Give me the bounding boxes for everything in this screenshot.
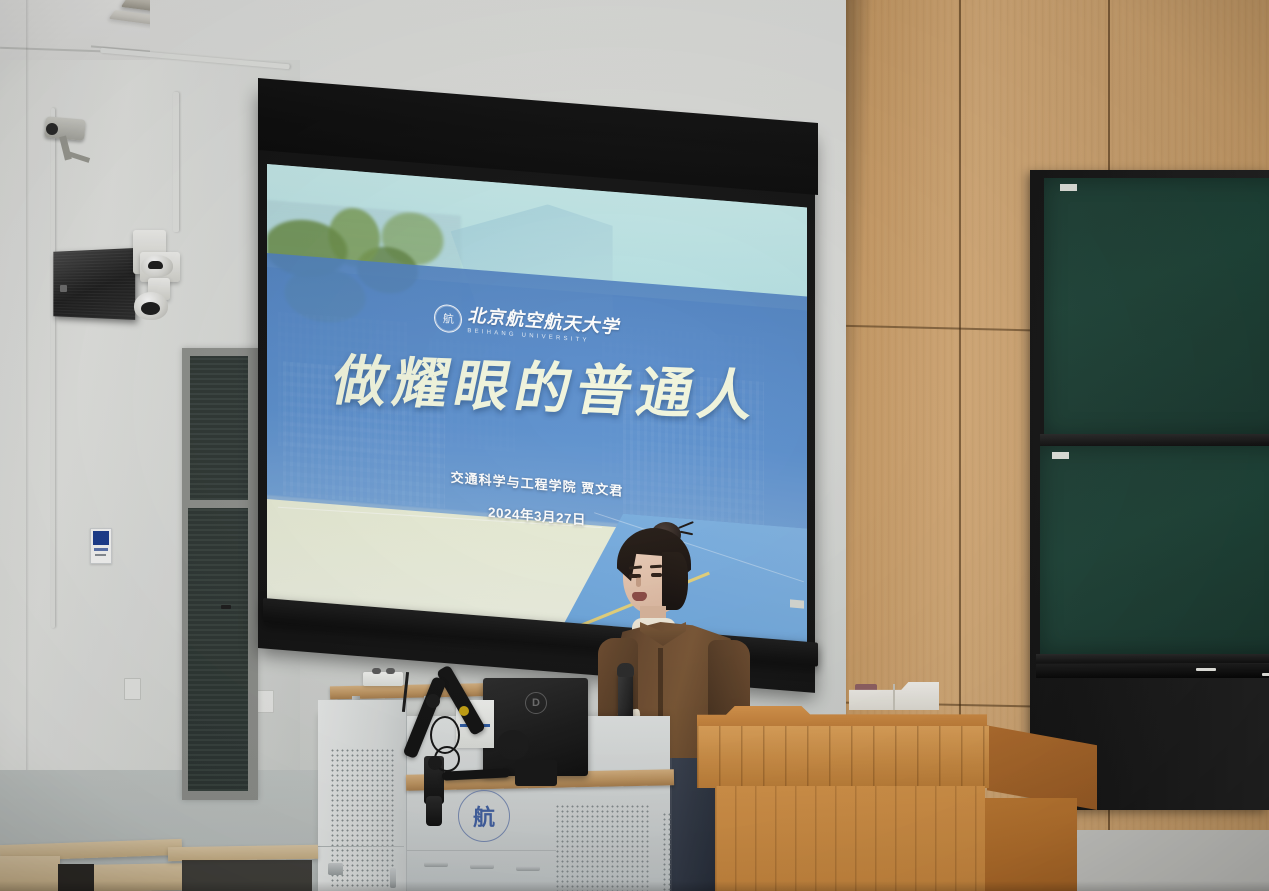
blackboard-rail — [1036, 654, 1269, 663]
hair-wisp — [678, 521, 694, 529]
podium-top-edge — [697, 706, 987, 728]
podium-item-seam — [893, 684, 895, 710]
window-handle[interactable] — [221, 605, 231, 609]
drawer-handle[interactable] — [424, 862, 448, 867]
eye — [651, 573, 662, 577]
wall-conduit — [173, 92, 179, 232]
dell-logo-icon: D — [525, 692, 547, 714]
desk-item — [386, 668, 395, 674]
drawer-divider — [318, 846, 404, 847]
window-pane-lower — [188, 508, 248, 791]
hair-wisp — [680, 531, 693, 536]
drawer-handle[interactable] — [516, 866, 540, 871]
nose — [636, 577, 641, 587]
microphone-head-icon — [617, 663, 634, 677]
drawer-handle[interactable] — [470, 864, 494, 869]
wall-corner — [26, 0, 29, 891]
blackboard-panel-top — [1044, 178, 1269, 436]
accessibility-sign — [90, 528, 112, 564]
lectern-emblem: 航 — [458, 790, 510, 842]
slide-title: 做耀眼的普通人 — [298, 351, 786, 425]
wall-outlet — [256, 690, 274, 713]
window-pane-upper — [190, 356, 248, 500]
monitor-stand — [515, 760, 557, 786]
desk-item-box — [363, 672, 403, 686]
perforated-panel — [662, 812, 672, 891]
blackboard-tray — [1036, 664, 1269, 678]
podium-slatted-face — [697, 726, 989, 788]
wooden-podium — [697, 706, 1049, 891]
presenter-hair-side — [662, 552, 688, 610]
eyebrow — [650, 565, 662, 569]
university-seal-icon: 航 — [434, 304, 462, 334]
floor-shadow — [0, 881, 1269, 891]
blackboard-label — [1052, 452, 1069, 459]
blackboard-label — [1060, 184, 1077, 191]
drawer-divider — [406, 850, 556, 851]
blackboard-panel-bottom — [1040, 446, 1269, 654]
chalk-piece[interactable] — [1262, 673, 1269, 676]
student-desk — [168, 845, 318, 862]
screen-corner-label — [790, 599, 804, 608]
podium-body — [715, 786, 985, 891]
wall-conduit — [51, 108, 55, 628]
lecture-hall-photo: 航 北京航空航天大学 BEIHANG UNIVERSITY 做耀眼的普通人 交通… — [0, 0, 1269, 891]
desk-item — [372, 668, 381, 674]
mouth — [632, 592, 647, 601]
speaker-badge — [60, 285, 67, 292]
podium-body-side — [985, 798, 1077, 891]
blackboard-rail — [1040, 434, 1269, 446]
cable-clip — [426, 694, 440, 708]
wall-speaker — [53, 248, 135, 320]
wall-outlet — [124, 678, 141, 700]
cable-clip — [428, 756, 442, 770]
monitor-arm-joint — [497, 730, 529, 760]
blackboard — [1030, 170, 1269, 810]
lock-icon[interactable] — [328, 863, 343, 875]
chalk-piece[interactable] — [1196, 668, 1216, 671]
perforated-panel — [555, 804, 651, 891]
